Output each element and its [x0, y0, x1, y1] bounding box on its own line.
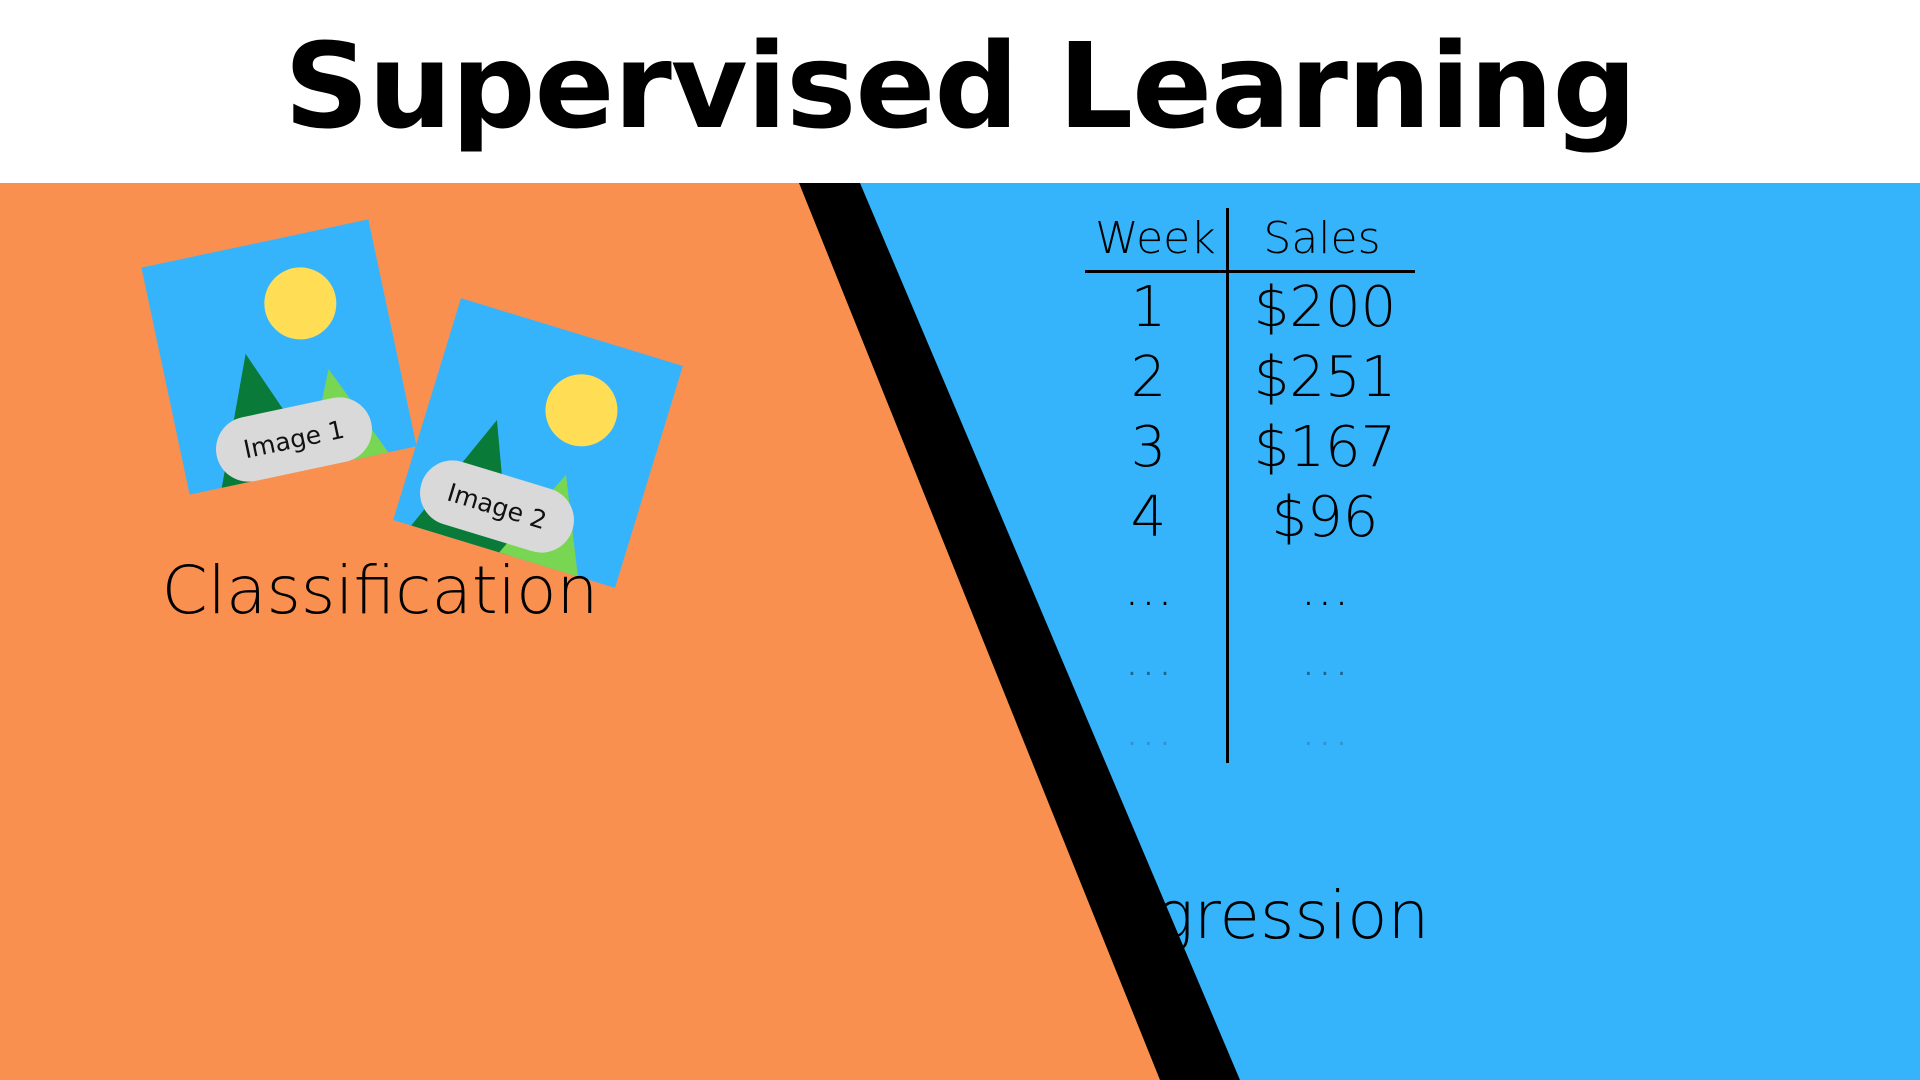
cell-sales: $251	[1227, 343, 1415, 413]
table-row-ellipsis: ... ...	[1085, 623, 1415, 693]
table-row: 2 $251	[1085, 343, 1415, 413]
cell-sales: ...	[1227, 553, 1415, 623]
cell-sales: $96	[1227, 483, 1415, 553]
cell-week: 2	[1085, 343, 1227, 413]
table-body: 1 $200 2 $251 3 $167 4 $	[1085, 272, 1415, 764]
table-row: 4 $96	[1085, 483, 1415, 553]
table-row: 3 $167	[1085, 413, 1415, 483]
regression-table: Week Sales 1 $200 2 $251	[1085, 208, 1415, 763]
cell-week: 3	[1085, 413, 1227, 483]
cell-sales: $167	[1227, 413, 1415, 483]
classification-label: Classification	[0, 558, 760, 624]
cell-week: ...	[1085, 693, 1227, 763]
table-row: 1 $200	[1085, 272, 1415, 344]
cell-sales: ...	[1227, 623, 1415, 693]
title-bar: Supervised Learning	[0, 0, 1920, 183]
table-header-sales: Sales	[1227, 208, 1415, 272]
cell-week: 1	[1085, 272, 1227, 344]
cell-sales: ...	[1227, 693, 1415, 763]
sun-icon	[258, 261, 343, 346]
panels-container: Image 1 Image 2 Classification Week Sale…	[0, 183, 1920, 1080]
sales-table: Week Sales 1 $200 2 $251	[1085, 208, 1415, 763]
cell-week: ...	[1085, 553, 1227, 623]
sun-icon	[537, 365, 627, 455]
page-title: Supervised Learning	[284, 27, 1636, 145]
cell-sales: $200	[1227, 272, 1415, 344]
table-row-ellipsis: ... ...	[1085, 553, 1415, 623]
table-row-ellipsis: ... ...	[1085, 693, 1415, 763]
table-header-week: Week	[1085, 208, 1227, 272]
cell-week: ...	[1085, 623, 1227, 693]
table-head: Week Sales	[1085, 208, 1415, 272]
slide-canvas: Supervised Learning Image 1 Image 2 Clas…	[0, 0, 1920, 1080]
table-header-row: Week Sales	[1085, 208, 1415, 272]
cell-week: 4	[1085, 483, 1227, 553]
